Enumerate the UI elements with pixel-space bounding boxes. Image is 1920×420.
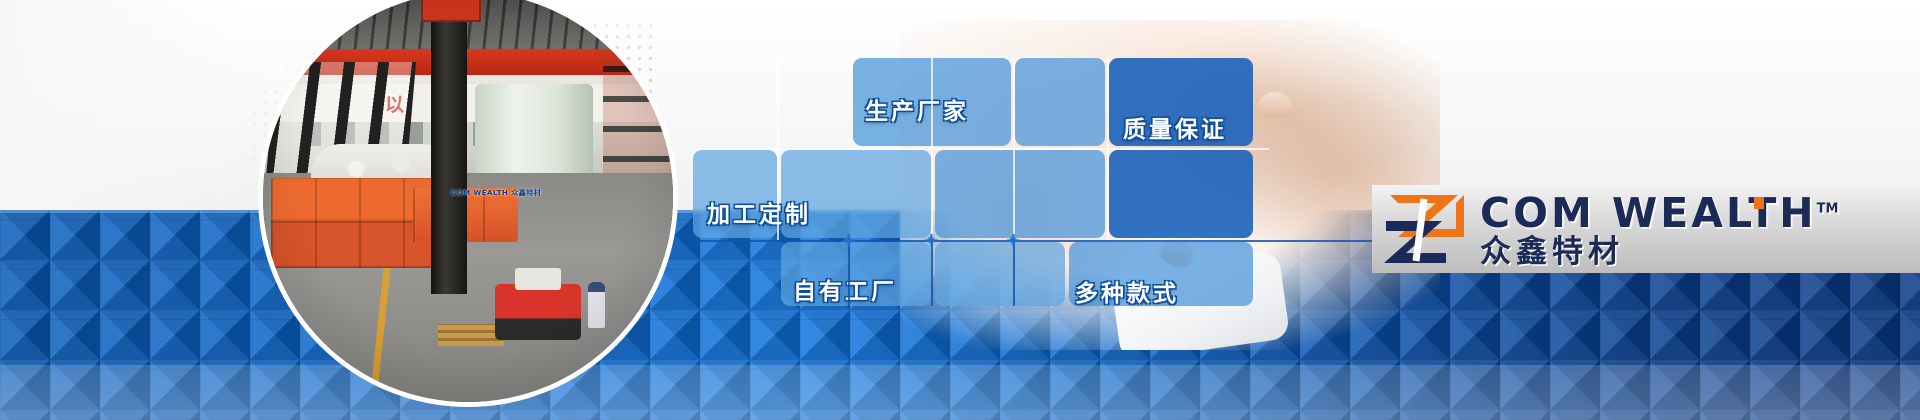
brand-logo-plate: COM WEALTHTM 众鑫特材 [1372, 185, 1920, 273]
tile-mid-filler-3[interactable] [1109, 150, 1253, 238]
feature-tile-grid: 生产厂家 质量保证 加工定制 自有工厂 多种款式 [693, 58, 1269, 306]
factory-workshop-photo: 以 精 立 业 COM WEALTH 众鑫特材 [263, 0, 673, 402]
tile-bottom-filler-1[interactable] [935, 242, 1065, 306]
feature-label-manufacturer: 生产厂家 [865, 92, 969, 126]
feature-label-own-factory: 自有工厂 [793, 272, 897, 306]
company-hero-banner: 以 精 立 业 COM WEALTH 众鑫特材 [0, 0, 1920, 420]
feature-label-quality: 质量保证 [1123, 110, 1227, 144]
feature-label-custom-processing: 加工定制 [707, 195, 811, 229]
factory-photo-circle: 以 精 立 业 COM WEALTH 众鑫特材 [263, 0, 673, 402]
brand-name-en: COM WEALTHTM [1480, 193, 1838, 234]
z-monogram-icon [1380, 191, 1472, 267]
brand-name-en-text: COM WEALTH [1480, 189, 1817, 237]
orange-accent-dot [1754, 197, 1764, 209]
photo-vignette [263, 0, 673, 402]
tile-top-filler-1[interactable] [1015, 58, 1105, 146]
brand-logo-text: COM WEALTHTM 众鑫特材 [1480, 191, 1838, 268]
feature-label-multiple-styles: 多种款式 [1075, 274, 1179, 308]
brand-name-cn: 众鑫特材 [1480, 237, 1838, 268]
tile-mid-filler-2[interactable] [935, 150, 1105, 238]
left-edge-fade [0, 0, 250, 212]
trademark-symbol: TM [1817, 201, 1839, 216]
